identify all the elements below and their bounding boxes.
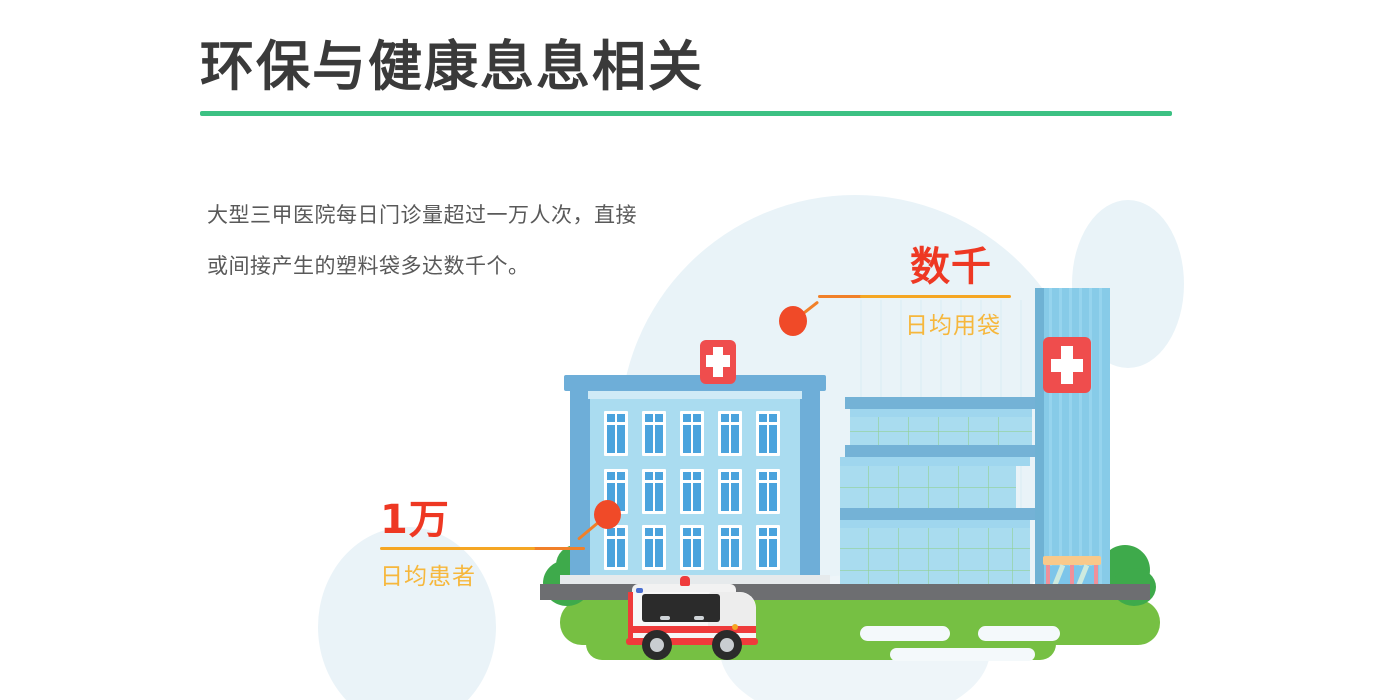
slide-canvas: 环保与健康息息相关 大型三甲医院每日门诊量超过一万人次，直接或间接产生的塑料袋多… bbox=[0, 0, 1400, 700]
road-marking bbox=[978, 626, 1060, 641]
hospital-tower bbox=[1035, 288, 1110, 588]
callout-label-patients: 日均患者 bbox=[380, 557, 476, 591]
ambulance bbox=[620, 570, 765, 660]
callout-value-patients: 1万 bbox=[380, 487, 450, 545]
title-underline bbox=[200, 111, 1172, 116]
callout-rule-patients bbox=[380, 547, 535, 550]
background-blob-left bbox=[318, 527, 496, 700]
red-cross-sign-tower bbox=[1043, 337, 1091, 393]
road-marking bbox=[860, 626, 950, 641]
callout-label-bags: 日均用袋 bbox=[905, 306, 1001, 340]
road-marking bbox=[890, 648, 1035, 661]
callout-dot-patients bbox=[594, 500, 621, 529]
callout-value-bags: 数千 bbox=[910, 234, 992, 292]
callout-rule-bags bbox=[860, 295, 1011, 298]
callout-dot-bags bbox=[779, 306, 807, 336]
body-paragraph: 大型三甲医院每日门诊量超过一万人次，直接或间接产生的塑料袋多达数千个。 bbox=[207, 190, 637, 292]
mid-rise-glass-building bbox=[845, 397, 1040, 587]
ambulance-beacon-icon bbox=[680, 576, 690, 586]
red-cross-sign-roof bbox=[700, 340, 736, 384]
main-hospital-building bbox=[570, 375, 820, 590]
page-title: 环保与健康息息相关 bbox=[200, 22, 704, 101]
